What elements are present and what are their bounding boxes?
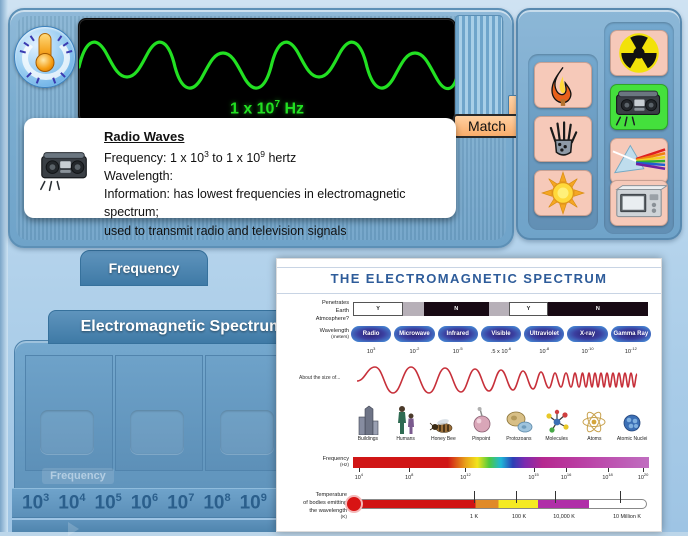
band-infrared[interactable]: Infrared [438, 326, 478, 342]
label-frequency-axis: Frequency (Hz) [281, 455, 349, 470]
frequency-ghost-label: Frequency [42, 468, 114, 484]
boombox-icon [36, 128, 94, 208]
flame-icon [535, 63, 591, 107]
exponent-value[interactable]: 106 [131, 492, 158, 514]
buildings-icon [349, 401, 387, 435]
pen-segment-n: N [548, 302, 648, 316]
temperature-tick [516, 491, 517, 503]
humans-icon [387, 401, 425, 435]
frequency-tick-label: 108 [405, 472, 413, 481]
label-wavelength: Wavelength (meters) [281, 327, 349, 342]
temperature-tick-label: 1 K [470, 514, 478, 520]
spectrum-band-list: Radio Microwave Infrared Visible Ultravi… [351, 326, 651, 342]
drop-slot-1[interactable] [25, 355, 113, 471]
band-wavelength-visible: .5 x 10-6 [481, 346, 521, 358]
temperature-tick-label: 100 K [512, 514, 526, 520]
exponent-value[interactable]: 108 [203, 492, 230, 514]
band-microwave[interactable]: Microwave [394, 326, 434, 342]
atom-icon [576, 401, 614, 435]
poster-rule-bottom [277, 293, 662, 294]
drop-slot-inner [220, 410, 274, 454]
temperature-tick [474, 491, 475, 503]
frequency-tick-label: 1012 [460, 472, 470, 481]
tile-xray-hand[interactable] [534, 116, 592, 162]
object-protozoans: Protozoans [500, 401, 538, 442]
temperature-tick [620, 491, 621, 503]
drop-slot-inner [40, 410, 94, 454]
object-atoms: Atoms [576, 401, 614, 442]
object-molecules: Molecules [538, 401, 576, 442]
frequency-axis-ticks: 104 108 1012 1015 1016 1018 1020 [353, 468, 649, 482]
pinpoint-icon [462, 401, 500, 435]
pen-segment-gray [403, 302, 424, 316]
information-title: Radio Waves [104, 128, 444, 147]
information-wavelength: Wavelength: [104, 167, 444, 185]
tile-microwave[interactable] [610, 180, 668, 226]
poster-title: THE ELECTROMAGNETIC SPECTRUM [277, 271, 661, 286]
thermometer-tube [361, 499, 647, 509]
frequency-dial[interactable] [14, 26, 76, 88]
temperature-thermometer [353, 497, 649, 511]
band-wavelength-infrared: 10-5 [438, 346, 478, 358]
frequency-tick-label: 1015 [528, 472, 538, 481]
window-left-edge [0, 0, 8, 532]
tile-flame[interactable] [534, 62, 592, 108]
label-about-the-size-of: About the size of... [299, 375, 340, 381]
frequency-tick-label: 1020 [638, 472, 648, 481]
thermometer-bulb-icon [345, 495, 363, 513]
band-gamma-ray[interactable]: Gamma Ray [611, 326, 651, 342]
prism-icon [611, 139, 667, 183]
information-frequency: Frequency: 1 x 103 to 1 x 109 hertz [104, 148, 444, 167]
pen-segment-y: Y [353, 302, 403, 316]
exponent-value[interactable]: 109 [240, 492, 267, 514]
information-card: Radio Waves Frequency: 1 x 103 to 1 x 10… [24, 118, 456, 218]
band-ultraviolet[interactable]: Ultraviolet [524, 326, 564, 342]
poster-rule-top [277, 267, 662, 268]
band-wavelength-values: 103 10-2 10-5 .5 x 10-6 10-8 10-10 10-12 [351, 346, 651, 358]
size-comparison-objects: Buildings Humans [349, 401, 651, 442]
band-wavelength-microwave: 10-2 [394, 346, 434, 358]
electromagnetic-spectrum-poster: THE ELECTROMAGNETIC SPECTRUM Penetrates … [276, 258, 662, 532]
frequency-tick-label: 104 [355, 472, 363, 481]
pen-segment-gray [489, 302, 510, 316]
information-text: Radio Waves Frequency: 1 x 103 to 1 x 10… [104, 128, 444, 208]
label-penetrates-atmosphere: Penetrates Earth Atmosphere? [281, 299, 349, 323]
match-button[interactable]: Match [453, 114, 521, 138]
tile-radiation[interactable] [610, 30, 668, 76]
wavelength-wave-illustration [357, 359, 647, 404]
temperature-tick-label: 10,000 K [553, 514, 575, 520]
band-wavelength-xray: 10-10 [567, 346, 607, 358]
drop-slot-inner [130, 410, 184, 454]
exponent-value[interactable]: 104 [58, 492, 85, 514]
temperature-tick [555, 491, 556, 503]
band-wavelength-radio: 103 [351, 346, 391, 358]
information-detail-line-1: Information: has lowest frequencies in e… [104, 185, 444, 221]
frequency-tick-label: 1018 [602, 472, 612, 481]
dial-hub-icon [36, 53, 55, 72]
tile-sun[interactable] [534, 170, 592, 216]
frequency-tick-label: 1016 [561, 472, 571, 481]
label-temperature-axis: Temperature of bodies emitting the wavel… [279, 491, 347, 522]
xray-hand-icon [535, 117, 591, 161]
play-arrow-icon[interactable] [68, 522, 79, 536]
object-humans: Humans [387, 401, 425, 442]
drop-slot-2[interactable] [115, 355, 203, 471]
molecule-icon [538, 401, 576, 435]
band-wavelength-ultraviolet: 10-8 [524, 346, 564, 358]
tile-prism[interactable] [610, 138, 668, 184]
object-pinpoint: Pinpoint [462, 401, 500, 442]
exponent-value[interactable]: 103 [22, 492, 49, 514]
frequency-readout: 1 x 107 Hz [79, 99, 455, 118]
tile-radio[interactable] [610, 84, 668, 130]
oscilloscope-display: 1 x 107 Hz [78, 18, 456, 123]
band-wavelength-gamma: 10-12 [611, 346, 651, 358]
pen-segment-y: Y [509, 302, 547, 316]
radiation-icon [611, 31, 667, 75]
information-detail-line-2: used to transmit radio and television si… [104, 222, 444, 240]
waveform-icon [79, 21, 456, 101]
object-honey-bee: Honey Bee [425, 401, 463, 442]
band-xray[interactable]: X-ray [567, 326, 607, 342]
atomic-nuclei-icon [613, 401, 651, 435]
icon-column-right [604, 22, 674, 234]
exponent-value[interactable]: 105 [95, 492, 122, 514]
bee-icon [425, 401, 463, 435]
temperature-tick-label: 10 Million K [613, 514, 641, 520]
microwave-icon [611, 181, 667, 225]
tab-frequency[interactable]: Frequency [80, 250, 208, 286]
object-atomic-nuclei: Atomic Nuclei [613, 401, 651, 442]
source-icon-panel [516, 8, 682, 240]
exponent-value[interactable]: 107 [167, 492, 194, 514]
band-radio[interactable]: Radio [351, 326, 391, 342]
icon-column-left [528, 54, 598, 230]
protozoan-icon [500, 401, 538, 435]
band-visible[interactable]: Visible [481, 326, 521, 342]
sun-icon [535, 171, 591, 215]
pen-segment-n: N [424, 302, 489, 316]
boombox-icon [611, 85, 667, 129]
frequency-color-scale [353, 457, 649, 468]
penetrates-atmosphere-bar: Y N Y N [353, 302, 648, 316]
object-buildings: Buildings [349, 401, 387, 442]
